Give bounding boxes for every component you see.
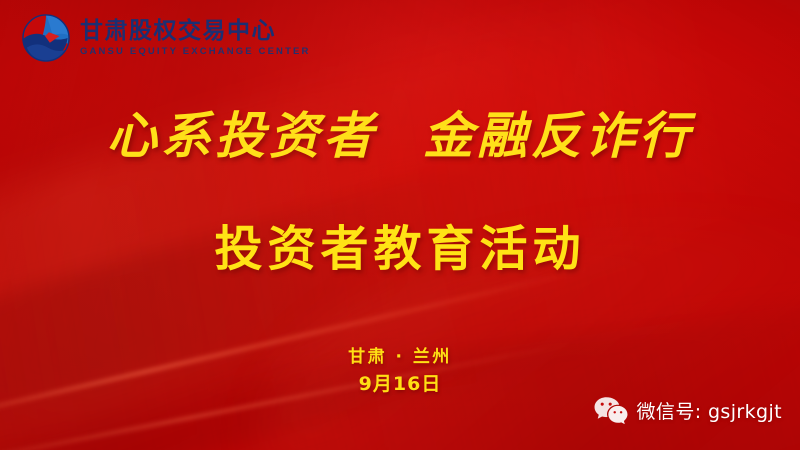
event-date: 9月16日: [0, 371, 800, 399]
brand-header: 甘肃股权交易中心 GANSU EQUITY EXCHANGE CENTER: [22, 14, 311, 62]
gansu-equity-globe-wave-logo-icon: [22, 14, 70, 62]
wechat-icon: [594, 396, 628, 424]
headline-part-1: 心系投资者: [107, 106, 377, 165]
subtitle: 投资者教育活动: [0, 222, 800, 277]
event-meta: 甘肃 · 兰州 9月16日: [0, 345, 800, 398]
event-location: 甘肃 · 兰州: [0, 345, 800, 371]
org-name-cn: 甘肃股权交易中心: [80, 19, 311, 43]
wechat-id-label: 微信号: gsjrkgjt: [637, 397, 782, 424]
headline: 心系投资者金融反诈行: [0, 106, 800, 166]
headline-part-2: 金融反诈行: [423, 106, 693, 165]
event-poster: 甘肃股权交易中心 GANSU EQUITY EXCHANGE CENTER 心系…: [0, 0, 800, 450]
brand-text-block: 甘肃股权交易中心 GANSU EQUITY EXCHANGE CENTER: [80, 18, 311, 58]
wechat-contact[interactable]: 微信号: gsjrkgjt: [594, 396, 782, 424]
org-name-en: GANSU EQUITY EXCHANGE CENTER: [80, 47, 311, 57]
